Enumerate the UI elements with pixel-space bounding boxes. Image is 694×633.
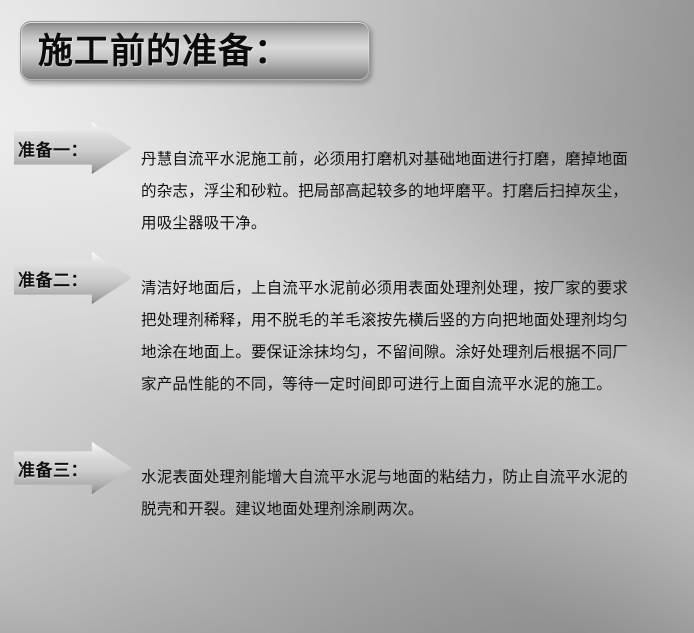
step-arrow-badge-2: 准备二： — [14, 252, 132, 304]
page-canvas: 施工前的准备： 准备一： 丹慧自流平水泥施工前，必须用打磨机对基础地面进行打磨，… — [0, 0, 694, 633]
title-banner: 施工前的准备： — [20, 21, 370, 81]
step-arrow-badge-3: 准备三： — [14, 442, 132, 494]
step-label-1: 准备一： — [14, 122, 92, 174]
step-body-3: 水泥表面处理剂能增大自流平水泥与地面的粘结力，防止自流平水泥的脱壳和开裂。建议地… — [141, 461, 628, 525]
step-body-1: 丹慧自流平水泥施工前，必须用打磨机对基础地面进行打磨，磨掉地面的杂志，浮尘和砂粒… — [141, 143, 628, 239]
step-label-2: 准备二： — [14, 252, 92, 304]
page-title: 施工前的准备： — [38, 34, 290, 69]
step-body-2: 清洁好地面后，上自流平水泥前必须用表面处理剂处理，按厂家的要求把处理剂稀释，用不… — [141, 272, 628, 400]
step-arrow-badge-1: 准备一： — [14, 122, 132, 174]
step-label-3: 准备三： — [14, 442, 92, 494]
